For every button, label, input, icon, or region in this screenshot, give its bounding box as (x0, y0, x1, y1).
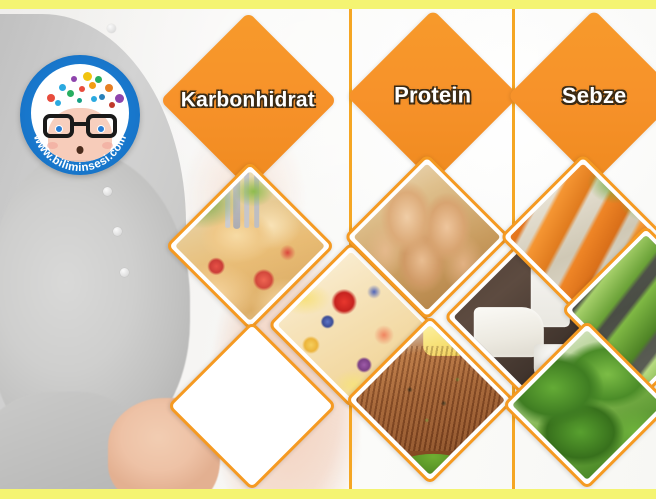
category-header-label: Sebze (562, 83, 627, 109)
logo-dot (115, 94, 124, 103)
category-header-label: Karbonhidrat (181, 89, 315, 113)
glasses-lens-right (86, 114, 117, 138)
logo-dot (59, 84, 66, 91)
site-logo-badge[interactable]: www.biliminsesi.com (20, 55, 140, 175)
frame-bar-bottom (0, 489, 656, 499)
logo-dot (79, 86, 85, 92)
mouth-icon (77, 146, 84, 154)
logo-dot (47, 94, 55, 102)
glasses-lens-left (43, 114, 74, 138)
logo-dot (109, 102, 115, 108)
logo-dot (71, 76, 77, 82)
logo-dot (105, 84, 113, 92)
logo-dot (67, 90, 74, 97)
glasses-icon (43, 114, 117, 138)
logo-dot (55, 100, 61, 106)
logo-dot (77, 98, 82, 103)
shirt-button-icon (107, 24, 116, 33)
category-header-label: Protein (394, 83, 471, 109)
logo-dot (83, 72, 92, 81)
logo-dot (89, 82, 96, 89)
poster-canvas: Karbonhidrat Protein (0, 0, 656, 499)
eye-icon (97, 125, 105, 133)
logo-cheek-icon (102, 142, 113, 149)
logo-dot (95, 76, 102, 83)
glasses-bridge (74, 122, 86, 126)
fork-icon (233, 171, 240, 229)
frame-bar-top (0, 0, 656, 9)
logo-dot (99, 94, 105, 100)
logo-dot (91, 96, 97, 102)
shirt-button-icon (113, 227, 122, 236)
logo-cheek-icon (47, 142, 58, 149)
shirt-button-icon (103, 187, 112, 196)
logo-inner-disc (31, 64, 129, 162)
shirt-button-icon (120, 268, 129, 277)
eye-icon (55, 125, 63, 133)
logo-chin-shade (60, 160, 100, 162)
